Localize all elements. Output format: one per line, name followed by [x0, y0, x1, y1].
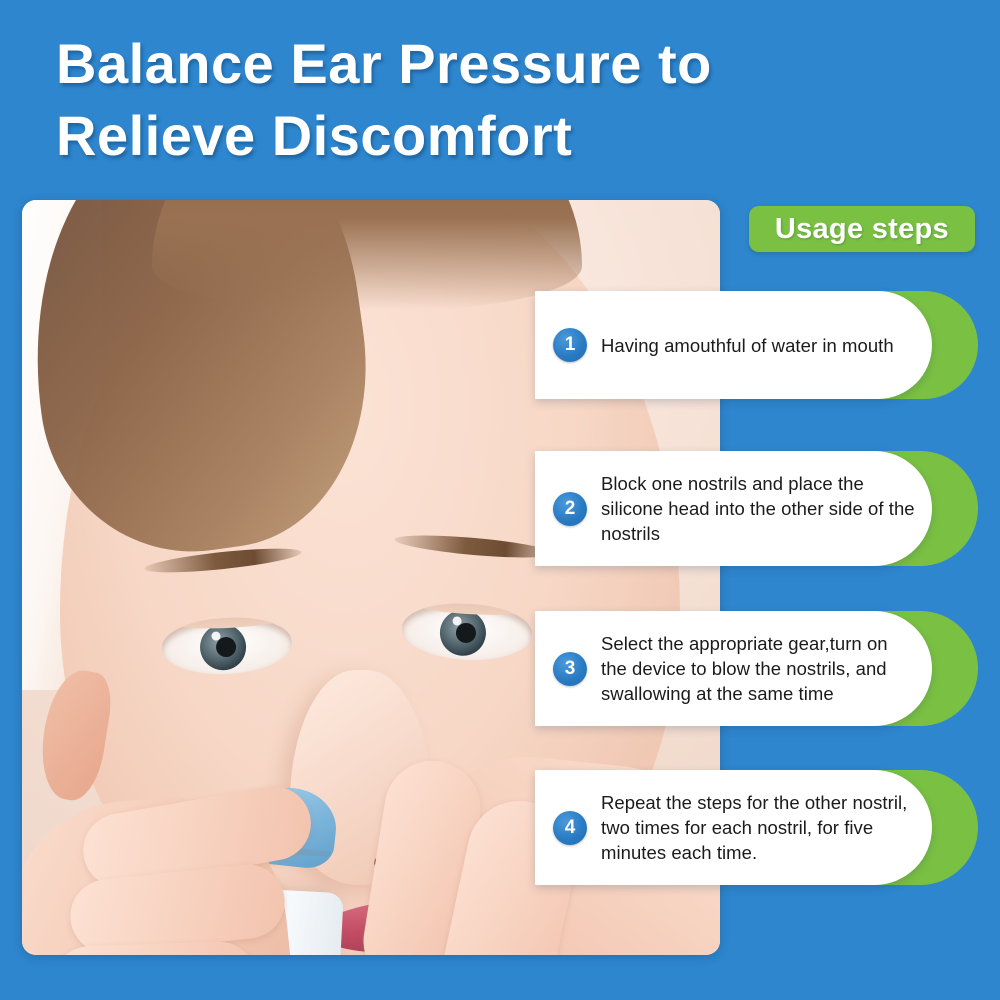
step-text-3: Select the appropriate gear,turn on the … — [601, 631, 932, 706]
step-item-3: 3 Select the appropriate gear,turn on th… — [535, 611, 978, 726]
step-number-badge-2: 2 — [553, 492, 587, 526]
step-item-2: 2 Block one nostrils and place the silic… — [535, 451, 978, 566]
usage-steps-list: 1 Having amouthful of water in mouth 2 B… — [0, 0, 1000, 1000]
step-text-1: Having amouthful of water in mouth — [601, 333, 932, 358]
step-number-badge-4: 4 — [553, 811, 587, 845]
step-card-3: 3 Select the appropriate gear,turn on th… — [535, 611, 932, 726]
step-text-2: Block one nostrils and place the silicon… — [601, 471, 932, 546]
step-card-2: 2 Block one nostrils and place the silic… — [535, 451, 932, 566]
product-infographic-poster: Balance Ear Pressure to Relieve Discomfo… — [0, 0, 1000, 1000]
step-card-1: 1 Having amouthful of water in mouth — [535, 291, 932, 399]
step-number-badge-3: 3 — [553, 652, 587, 686]
step-number-badge-1: 1 — [553, 328, 587, 362]
step-card-4: 4 Repeat the steps for the other nostril… — [535, 770, 932, 885]
step-item-1: 1 Having amouthful of water in mouth — [535, 291, 978, 399]
step-text-4: Repeat the steps for the other nostril, … — [601, 790, 932, 865]
step-item-4: 4 Repeat the steps for the other nostril… — [535, 770, 978, 885]
